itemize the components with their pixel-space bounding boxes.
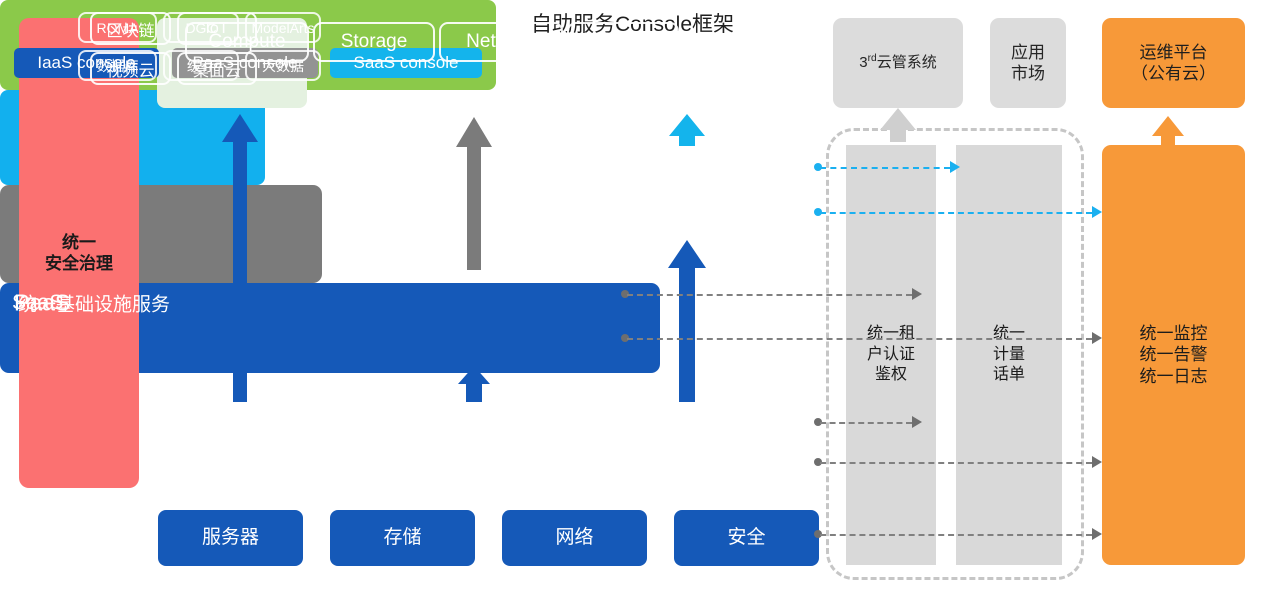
security-governance-pillar: 统一 安全治理 <box>19 18 139 488</box>
third-party-prefix: 3 <box>859 54 867 71</box>
architecture-diagram: 统一 安全治理 API网关 自助服务Console框架 IaaS console… <box>0 0 1265 605</box>
infra-chip-storage[interactable]: Storage <box>313 22 435 62</box>
arrowhead-saas-to-tenant-auth <box>950 161 960 173</box>
conn-saas-to-tenant-auth <box>820 167 950 169</box>
arrow-saas-to-console <box>664 112 710 146</box>
arrow-shared-to-third-party <box>875 106 921 142</box>
conn-resources-to-ops-platform <box>820 534 1092 536</box>
arrow-paas-to-console <box>452 115 496 270</box>
ops-side-line2: 统一告警 <box>1140 344 1208 365</box>
app-market-line2: 市场 <box>1011 63 1045 84</box>
infra-chip-network[interactable]: Network <box>439 22 563 62</box>
paas-chip-roma[interactable]: ROMA <box>78 12 157 43</box>
conn-paas-to-tenant-auth <box>627 294 912 296</box>
resource-box-server: 服务器 <box>158 510 303 566</box>
metering-billing-pillar: 统一 计量 话单 <box>956 145 1062 565</box>
ops-side-line3: 统一日志 <box>1140 366 1208 387</box>
ops-platform-top-line1: 运维平台 <box>1131 42 1216 63</box>
third-party-superscript: rd <box>868 53 877 64</box>
arrow-ops-side-to-ops-top <box>1148 114 1188 148</box>
tenant-auth-line1: 统一租 <box>867 324 915 345</box>
conn-paas-to-ops-platform <box>627 338 1092 340</box>
arrowhead-infra-to-tenant-auth <box>912 416 922 428</box>
arrow-infra-to-api-gateway <box>218 112 262 402</box>
resource-box-network: 网络 <box>502 510 647 566</box>
conn-infra-to-ops-platform <box>820 462 1092 464</box>
tenant-auth-pillar: 统一租 户认证 鉴权 <box>846 145 936 565</box>
arrowhead-paas-to-ops-platform <box>1092 332 1102 344</box>
arrow-infra-to-paas <box>452 364 496 402</box>
app-market-box: 应用 市场 <box>990 18 1066 108</box>
ops-platform-top-line2: （公有云） <box>1131 63 1216 84</box>
metering-line1: 统一 <box>993 324 1025 345</box>
infra-chip-cce[interactable]: CCE <box>567 22 679 62</box>
infrastructure-label: 统一基础设施服务 <box>18 289 170 316</box>
tenant-auth-line2: 户认证 <box>867 345 915 366</box>
arrowhead-resources-to-ops-platform <box>1092 528 1102 540</box>
security-governance-line1: 统一 <box>45 232 113 253</box>
tenant-auth-line3: 鉴权 <box>867 365 915 386</box>
conn-infra-to-tenant-auth <box>820 422 912 424</box>
resource-box-security: 安全 <box>674 510 819 566</box>
arrowhead-saas-to-ops-platform <box>1092 206 1102 218</box>
security-governance-line2: 安全治理 <box>45 253 113 274</box>
third-party-cloud-mgmt-box: 3rd云管系统 <box>833 18 963 108</box>
arrow-infra-to-saas <box>664 238 710 402</box>
app-market-line1: 应用 <box>1011 42 1045 63</box>
ops-platform-side-pillar: 统一监控 统一告警 统一日志 <box>1102 145 1245 565</box>
ops-platform-top-box: 运维平台 （公有云） <box>1102 18 1245 108</box>
arrowhead-infra-to-ops-platform <box>1092 456 1102 468</box>
infra-chip-compute[interactable]: Compute <box>185 22 309 62</box>
metering-line3: 话单 <box>993 365 1025 386</box>
ops-side-line1: 统一监控 <box>1140 323 1208 344</box>
resource-box-storage: 存储 <box>330 510 475 566</box>
third-party-suffix: 云管系统 <box>877 54 937 71</box>
conn-saas-to-ops-platform <box>820 212 1092 214</box>
arrowhead-paas-to-tenant-auth <box>912 288 922 300</box>
metering-line2: 计量 <box>993 345 1025 366</box>
paas-chip-database[interactable]: 数据库 <box>78 50 157 81</box>
